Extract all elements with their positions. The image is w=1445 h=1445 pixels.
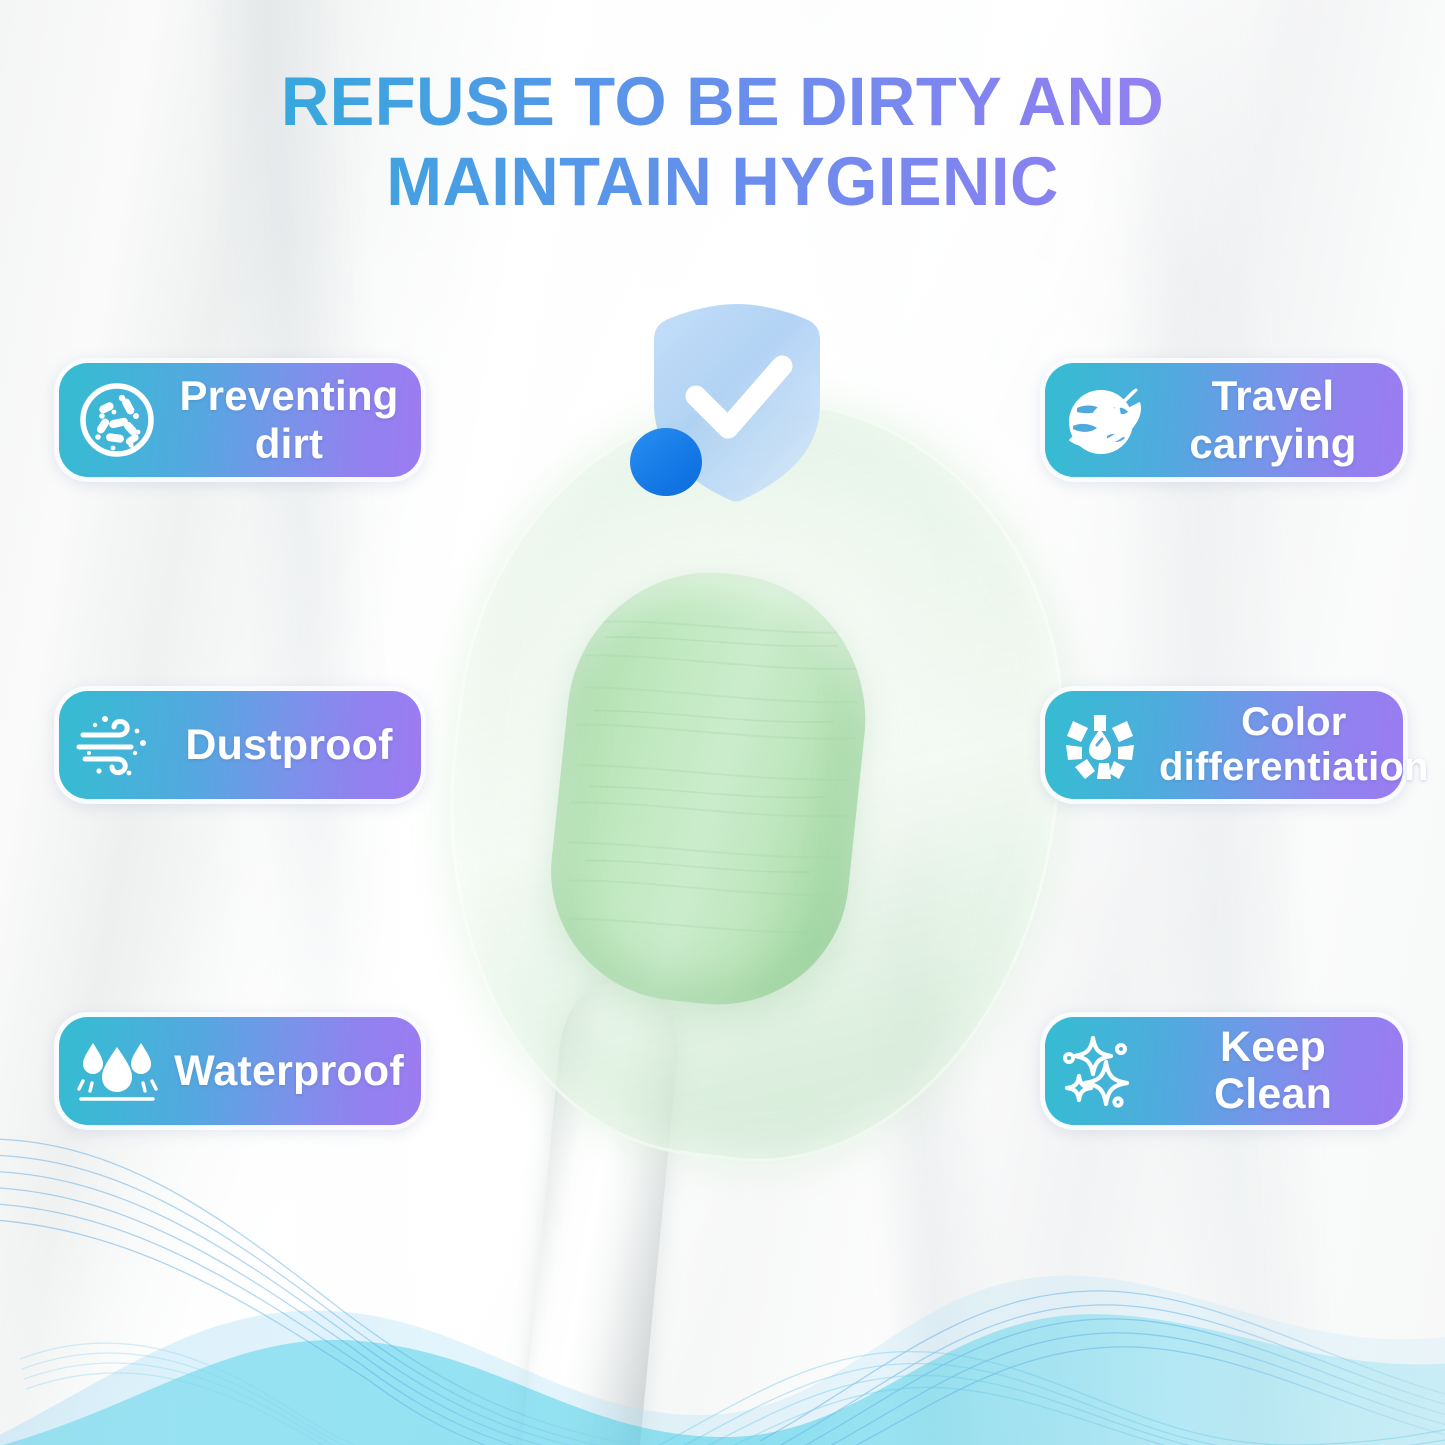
- page-title: REFUSE TO BE DIRTY AND MAINTAIN HYGIENIC: [22, 62, 1424, 222]
- accent-dot-icon: [630, 428, 702, 496]
- badge-label: Keep Clean: [1159, 1024, 1387, 1118]
- wind-dust-icon: [73, 701, 161, 789]
- decorative-waves: [0, 1115, 1445, 1445]
- globe-airplane-icon: [1059, 376, 1147, 464]
- badge-label: Preventing dirt: [173, 372, 405, 468]
- badge-keep-clean[interactable]: Keep Clean: [1040, 1012, 1408, 1130]
- infographic-canvas: REFUSE TO BE DIRTY AND MAINTAIN HYGIENIC: [0, 0, 1445, 1445]
- bacteria-petri-dish-icon: [73, 376, 161, 464]
- badge-label: Travel carrying: [1159, 372, 1387, 468]
- sparkles-icon: [1059, 1027, 1147, 1115]
- brush-head-bristles: [538, 559, 879, 1018]
- bristle-texture: [538, 559, 879, 1018]
- badge-label: Dustproof: [173, 722, 405, 769]
- badge-dustproof[interactable]: Dustproof: [54, 686, 426, 804]
- water-droplets-icon: [73, 1027, 161, 1115]
- badge-waterproof[interactable]: Waterproof: [54, 1012, 426, 1130]
- badge-label: Waterproof: [173, 1048, 405, 1095]
- badge-color-differentiation[interactable]: Color differentiation: [1040, 686, 1408, 804]
- badge-label: Color differentiation: [1159, 700, 1429, 790]
- badge-preventing-dirt[interactable]: Preventing dirt: [54, 358, 426, 482]
- shield-check-badge: [622, 288, 852, 513]
- color-wheel-droplet-icon: [1059, 701, 1147, 789]
- badge-travel-carrying[interactable]: Travel carrying: [1040, 358, 1408, 482]
